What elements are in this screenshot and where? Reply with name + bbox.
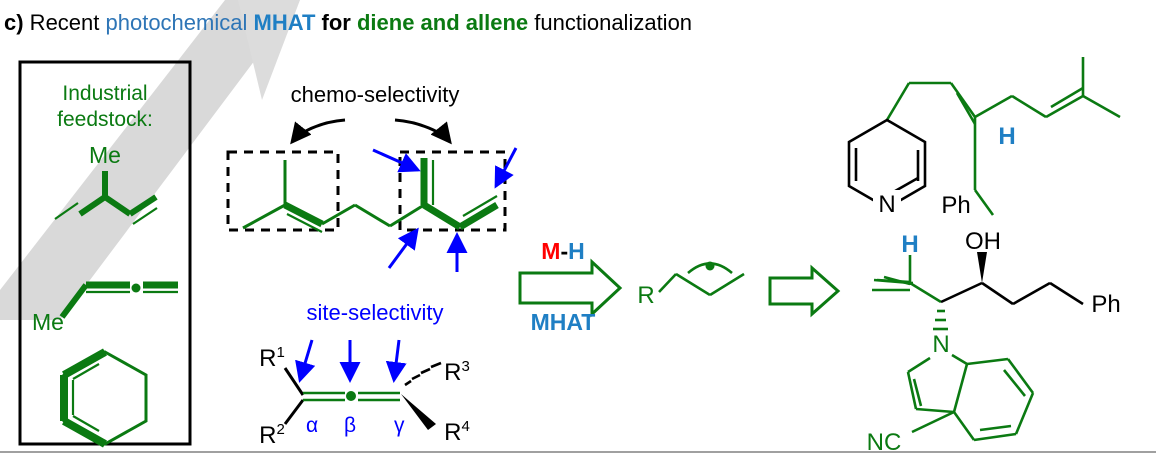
- allene-greek-gamma: γ: [394, 414, 405, 437]
- radical-dot: [706, 262, 715, 271]
- allene-label-R3: R3: [444, 358, 470, 386]
- figure-panel: c) Recent photochemical MHAT for diene a…: [0, 0, 1156, 459]
- product-bottom-wedge-OH: [977, 252, 987, 283]
- reagent-dash: -: [560, 238, 568, 264]
- allene-center-dot: [346, 391, 356, 401]
- structure-cyclohexadiene: [64, 352, 146, 444]
- allene-label-R2: R2: [259, 421, 285, 449]
- allene-blue-arrows: [300, 340, 399, 380]
- chemo-arrow-left: [292, 120, 345, 142]
- product-top-label-H: H: [998, 123, 1015, 150]
- site-selectivity-label: site-selectivity: [307, 300, 444, 325]
- allene-hash-R3: [405, 363, 441, 385]
- structure-allyl-radical: R: [637, 262, 744, 310]
- product-arrow: [770, 268, 838, 314]
- reagent-hydrogen: H: [568, 238, 585, 264]
- product-top-label-N: N: [878, 191, 895, 218]
- intermediate-label-R: R: [637, 282, 654, 309]
- chemistry-layer: Industrial feedstock: Me Me: [0, 0, 1156, 459]
- product-bottom: H OH Ph N: [867, 228, 1121, 456]
- product-bottom-indole: [908, 355, 1033, 440]
- product-top-label-Ph: Ph: [941, 192, 970, 219]
- mhat-reaction-arrow-group: M-H MHAT: [520, 238, 620, 335]
- site-arrow-3: [389, 230, 417, 268]
- product-bottom-label-N: N: [932, 331, 949, 358]
- isoprene-methyl-label: Me: [89, 142, 121, 168]
- reagent-MH-label: M-H: [541, 238, 584, 264]
- structure-substrate-diene: [243, 158, 497, 232]
- product-top: H N Ph: [849, 57, 1120, 219]
- structure-allene-generic: R1 R2 R3 R4 α β: [259, 340, 470, 449]
- site-arrow-1: [373, 150, 418, 170]
- process-label-mhat: MHAT: [531, 309, 596, 335]
- allene-label-R1: R1: [259, 344, 285, 372]
- feedstock-heading-line2: feedstock:: [57, 108, 153, 131]
- dashed-box-trisubstituted-alkene: [228, 152, 338, 230]
- allene-label-R4: R4: [444, 418, 470, 446]
- allene-central-dot: [132, 284, 141, 293]
- reagent-metal: M: [541, 238, 560, 264]
- feedstock-heading-line1: Industrial: [62, 82, 147, 105]
- product-bottom-label-Ph: Ph: [1091, 291, 1120, 318]
- allene-methyl-label: Me: [32, 309, 64, 335]
- allene-wedge-R4: [401, 394, 436, 430]
- product-bottom-hash-N: [933, 311, 948, 329]
- product-bottom-label-H: H: [901, 231, 918, 258]
- allene-greek-alpha: α: [306, 414, 318, 437]
- chemo-selectivity-label: chemo-selectivity: [291, 82, 460, 107]
- dashed-box-diene: [400, 152, 505, 230]
- product-bottom-label-OH: OH: [965, 228, 1001, 255]
- structure-isoprene: Me: [55, 142, 157, 224]
- chemo-arrow-right: [395, 120, 450, 142]
- structure-methyl-allene: Me: [32, 284, 178, 336]
- reaction-arrow: [520, 262, 620, 314]
- product-bottom-backbone: [941, 283, 1083, 304]
- allene-greek-beta: β: [344, 414, 356, 437]
